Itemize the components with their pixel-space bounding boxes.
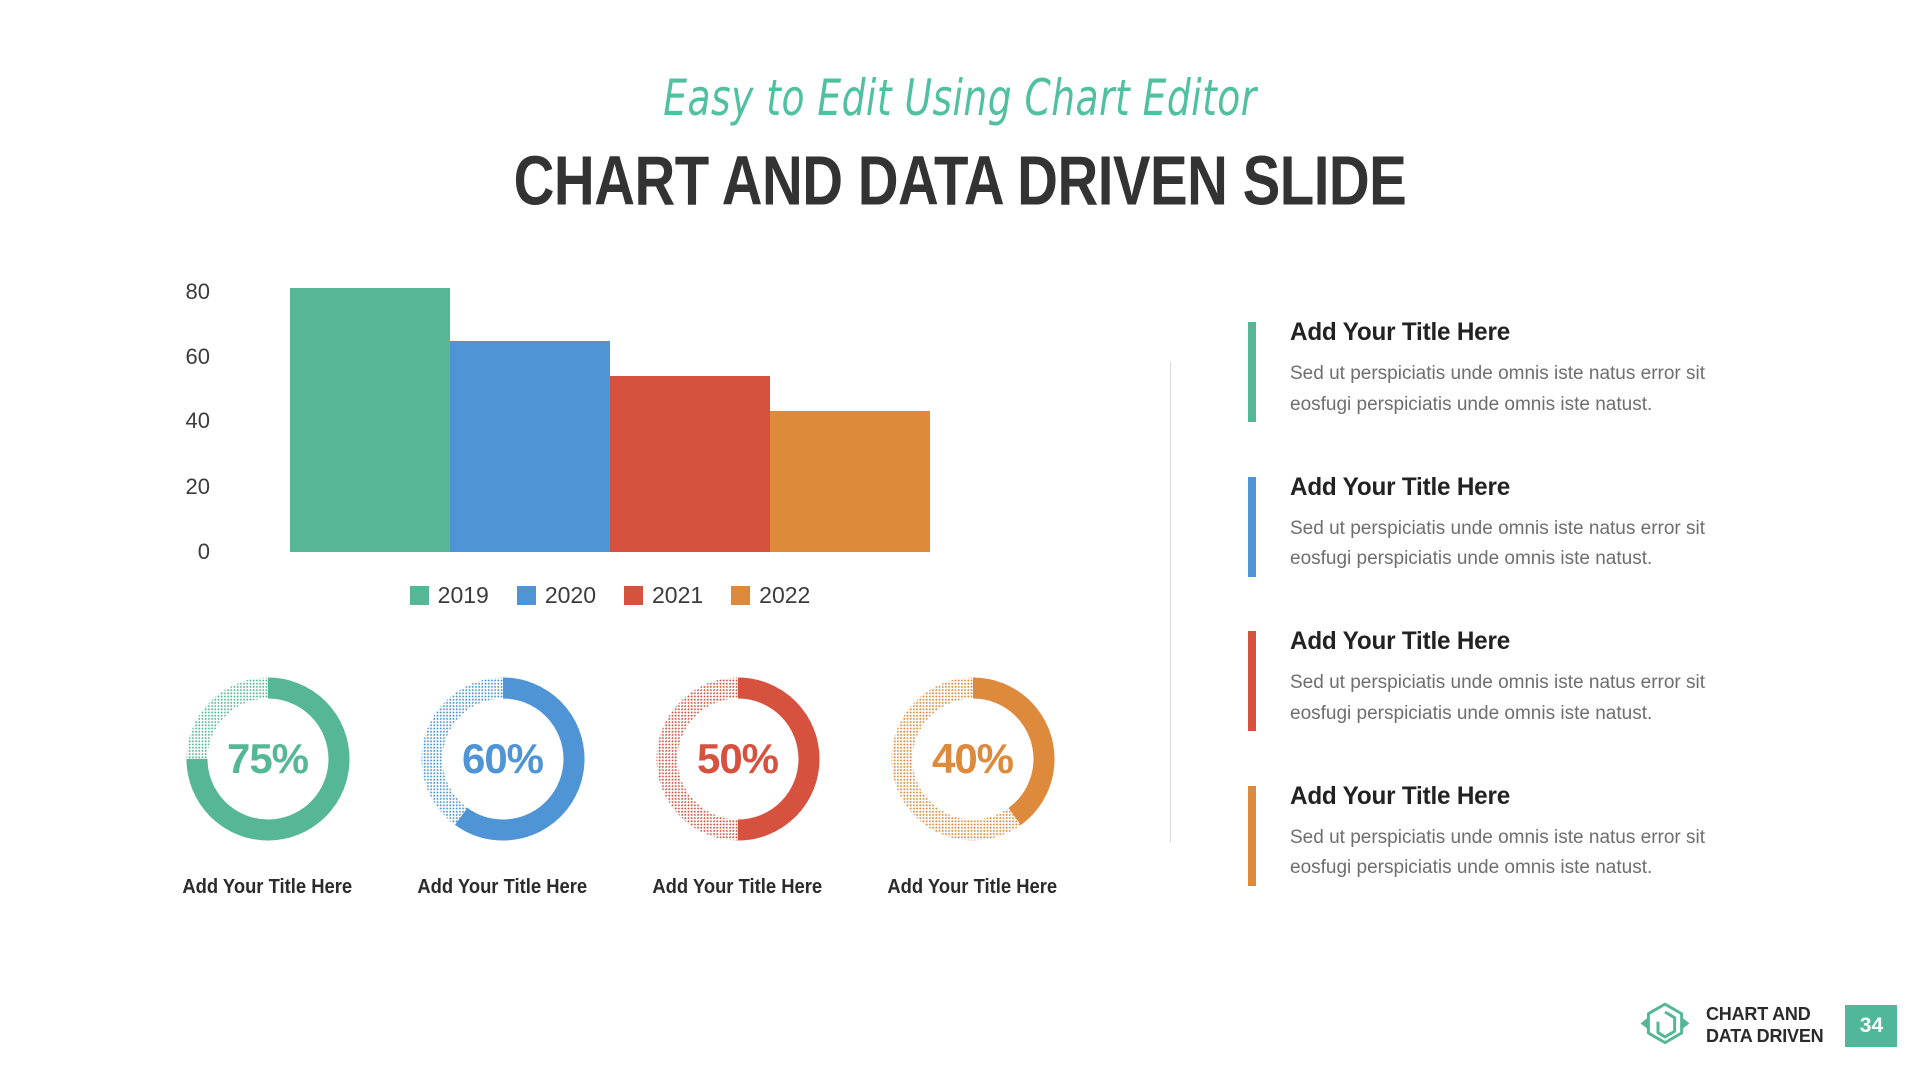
vertical-divider xyxy=(1170,362,1171,842)
footer-brand-text: CHART AND DATA DRIVEN xyxy=(1706,1004,1823,1048)
donut-ring: 50% xyxy=(649,670,827,848)
donut-caption: Add Your Title Here xyxy=(418,876,588,899)
footer-brand-line-2: DATA DRIVEN xyxy=(1706,1026,1823,1048)
donut-gauge-2022: 40%Add Your Title Here xyxy=(855,670,1090,930)
info-item-body: Sed ut perspiciatis unde omnis iste natu… xyxy=(1290,823,1742,885)
bar-2019 xyxy=(290,288,450,552)
donut-value-label: 75% xyxy=(179,670,357,848)
donut-value-label: 60% xyxy=(414,670,592,848)
bar-2022 xyxy=(770,411,930,552)
info-item: Add Your Title HereSed ut perspiciatis u… xyxy=(1248,473,1788,576)
donut-gauge-2021: 50%Add Your Title Here xyxy=(620,670,855,930)
donut-gauge-2020: 60%Add Your Title Here xyxy=(385,670,620,930)
accent-bar xyxy=(1248,322,1256,422)
y-axis-tick: 80 xyxy=(150,281,210,303)
info-item-title: Add Your Title Here xyxy=(1290,627,1773,656)
page-title: CHART AND DATA DRIVEN SLIDE xyxy=(10,141,1911,222)
info-item-body: Sed ut perspiciatis unde omnis iste natu… xyxy=(1290,668,1742,730)
legend-label: 2020 xyxy=(545,582,596,609)
donut-ring: 75% xyxy=(179,670,357,848)
legend-item-2022[interactable]: 2022 xyxy=(731,582,810,609)
bar-chart-plot-area xyxy=(290,270,930,552)
donut-gauge-2019: 75%Add Your Title Here xyxy=(150,670,385,930)
bar-2021 xyxy=(610,376,770,552)
footer-brand-line-1: CHART AND xyxy=(1706,1004,1823,1026)
accent-bar xyxy=(1248,631,1256,731)
info-item: Add Your Title HereSed ut perspiciatis u… xyxy=(1248,782,1788,885)
info-list: Add Your Title HereSed ut perspiciatis u… xyxy=(1248,318,1788,884)
legend-swatch-icon xyxy=(517,586,536,605)
slide-subtitle: Easy to Edit Using Chart Editor xyxy=(58,70,1863,128)
footer: CHART AND DATA DRIVEN 34 xyxy=(1637,998,1897,1054)
legend-item-2019[interactable]: 2019 xyxy=(410,582,489,609)
legend-label: 2019 xyxy=(438,582,489,609)
donut-caption: Add Your Title Here xyxy=(653,876,823,899)
bar-series xyxy=(290,270,930,552)
info-item: Add Your Title HereSed ut perspiciatis u… xyxy=(1248,318,1788,421)
donut-caption: Add Your Title Here xyxy=(888,876,1058,899)
y-axis-tick: 0 xyxy=(150,541,210,563)
bar-2020 xyxy=(450,341,610,553)
accent-bar xyxy=(1248,477,1256,577)
legend-item-2020[interactable]: 2020 xyxy=(517,582,596,609)
legend-label: 2021 xyxy=(652,582,703,609)
donut-gauge-group: 75%Add Your Title Here60%Add Your Title … xyxy=(150,670,1090,930)
donut-ring: 40% xyxy=(884,670,1062,848)
accent-bar xyxy=(1248,786,1256,886)
info-item-body: Sed ut perspiciatis unde omnis iste natu… xyxy=(1290,359,1742,421)
info-item-body: Sed ut perspiciatis unde omnis iste natu… xyxy=(1290,514,1742,576)
bar-chart: 80 60 40 20 0 2019202020212022 xyxy=(150,270,990,570)
donut-value-label: 50% xyxy=(649,670,827,848)
y-axis-tick: 20 xyxy=(150,476,210,498)
bar-chart-y-axis: 80 60 40 20 0 xyxy=(150,270,210,552)
legend-swatch-icon xyxy=(624,586,643,605)
info-item: Add Your Title HereSed ut perspiciatis u… xyxy=(1248,627,1788,730)
donut-caption: Add Your Title Here xyxy=(183,876,353,899)
legend-swatch-icon xyxy=(731,586,750,605)
y-axis-tick: 40 xyxy=(150,410,210,432)
legend-label: 2022 xyxy=(759,582,810,609)
legend-swatch-icon xyxy=(410,586,429,605)
info-item-title: Add Your Title Here xyxy=(1290,782,1773,811)
legend-item-2021[interactable]: 2021 xyxy=(624,582,703,609)
chart-legend: 2019202020212022 xyxy=(290,582,930,609)
donut-ring: 60% xyxy=(414,670,592,848)
info-item-title: Add Your Title Here xyxy=(1290,318,1773,347)
donut-value-label: 40% xyxy=(884,670,1062,848)
brand-hexagon-logo-icon xyxy=(1637,998,1693,1054)
info-item-title: Add Your Title Here xyxy=(1290,473,1773,502)
page-number-badge: 34 xyxy=(1845,1005,1897,1047)
y-axis-tick: 60 xyxy=(150,346,210,368)
